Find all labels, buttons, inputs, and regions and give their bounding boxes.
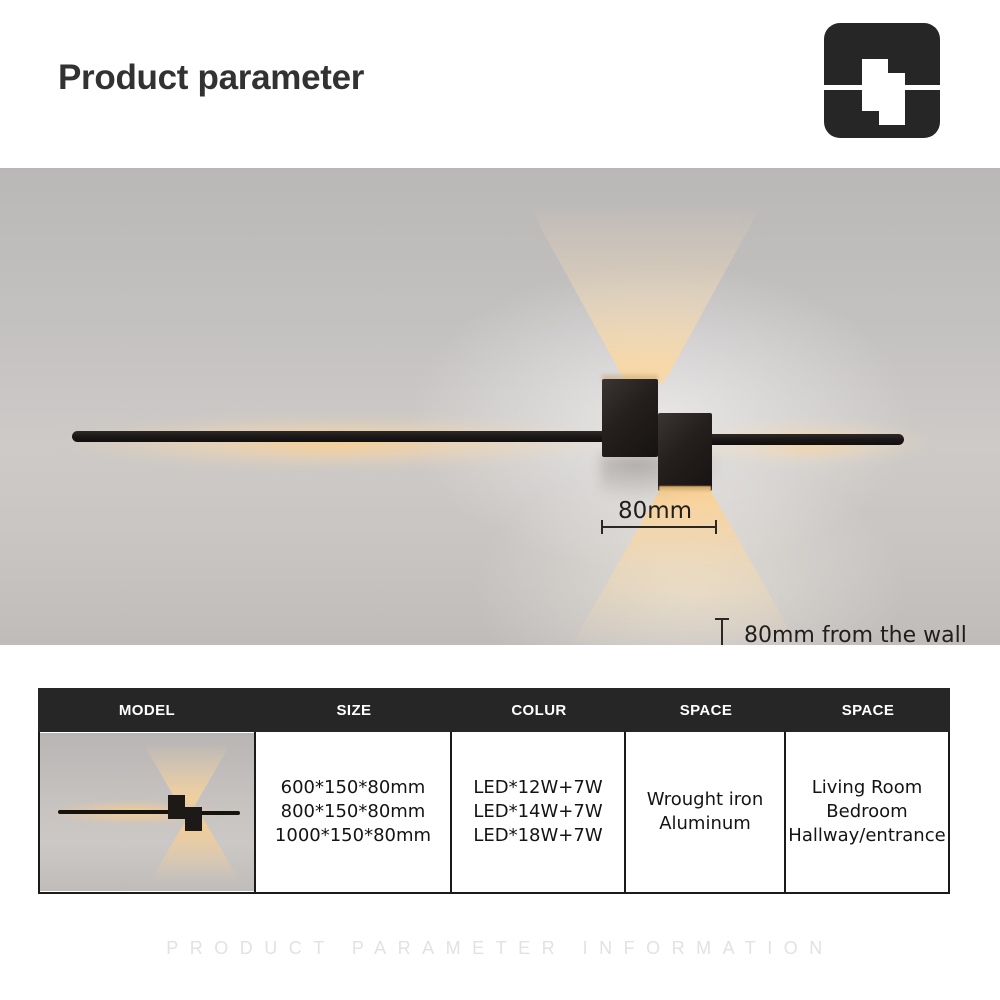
lamp-bar-left bbox=[72, 431, 612, 442]
dimension-label-depth-top: 80mm bbox=[618, 498, 692, 524]
cell-size: 600*150*80mm 800*150*80mm 1000*150*80mm bbox=[256, 732, 452, 894]
material-option-2: Aluminum bbox=[659, 812, 751, 836]
column-header-colur: COLUR bbox=[452, 702, 626, 719]
colur-option-1: LED*12W+7W bbox=[473, 776, 602, 800]
colur-option-3: LED*18W+7W bbox=[473, 824, 602, 848]
page-header: Product parameter bbox=[0, 0, 1000, 168]
right-bar-glow bbox=[690, 418, 930, 478]
column-header-model: MODEL bbox=[38, 702, 256, 719]
wall-background bbox=[0, 168, 1000, 645]
product-photo: 80mm 80mm from the wall 1000mm bbox=[0, 168, 1000, 645]
dimension-label-from-wall: 80mm from the wall bbox=[744, 623, 967, 645]
dimension-line-depth-top bbox=[601, 526, 717, 528]
lower-mount-box bbox=[658, 413, 712, 491]
table-row: 600*150*80mm 800*150*80mm 1000*150*80mm … bbox=[38, 732, 950, 894]
cell-space-rooms: Living Room Bedroom Hallway/entrance bbox=[786, 732, 950, 894]
column-header-size: SIZE bbox=[256, 702, 452, 719]
thumbnail-lower-mount-box bbox=[185, 807, 202, 831]
room-option-3: Hallway/entrance bbox=[788, 824, 945, 848]
thumbnail-lamp-bar-left bbox=[58, 810, 170, 814]
left-bar-glow bbox=[55, 416, 615, 482]
thumbnail-upper-mount-box bbox=[168, 795, 185, 819]
colur-option-2: LED*14W+7W bbox=[473, 800, 602, 824]
column-header-space-material: SPACE bbox=[626, 702, 786, 719]
size-option-3: 1000*150*80mm bbox=[275, 824, 431, 848]
lower-box-emitter bbox=[659, 486, 711, 493]
room-option-1: Living Room bbox=[812, 776, 923, 800]
cell-space-material: Wrought iron Aluminum bbox=[626, 732, 786, 894]
page-title: Product parameter bbox=[58, 58, 364, 98]
material-option-1: Wrought iron bbox=[647, 788, 763, 812]
product-thumbnail bbox=[40, 733, 254, 891]
column-header-space-rooms: SPACE bbox=[786, 702, 950, 719]
size-option-2: 800*150*80mm bbox=[281, 800, 426, 824]
logo-step-lower bbox=[879, 73, 905, 125]
cell-colur: LED*12W+7W LED*14W+7W LED*18W+7W bbox=[452, 732, 626, 894]
footer-watermark: PRODUCT PARAMETER INFORMATION bbox=[0, 938, 1000, 959]
thumbnail-uplight-beam bbox=[144, 745, 230, 807]
size-option-1: 600*150*80mm bbox=[281, 776, 426, 800]
dimension-line-from-wall bbox=[721, 618, 723, 645]
room-option-2: Bedroom bbox=[826, 800, 907, 824]
table-header-row: MODEL SIZE COLUR SPACE SPACE bbox=[38, 688, 950, 732]
brand-logo-icon bbox=[824, 23, 940, 138]
cell-model bbox=[38, 732, 256, 894]
spec-table: MODEL SIZE COLUR SPACE SPACE 600*150*80m… bbox=[38, 688, 950, 894]
upper-mount-box bbox=[602, 379, 658, 457]
